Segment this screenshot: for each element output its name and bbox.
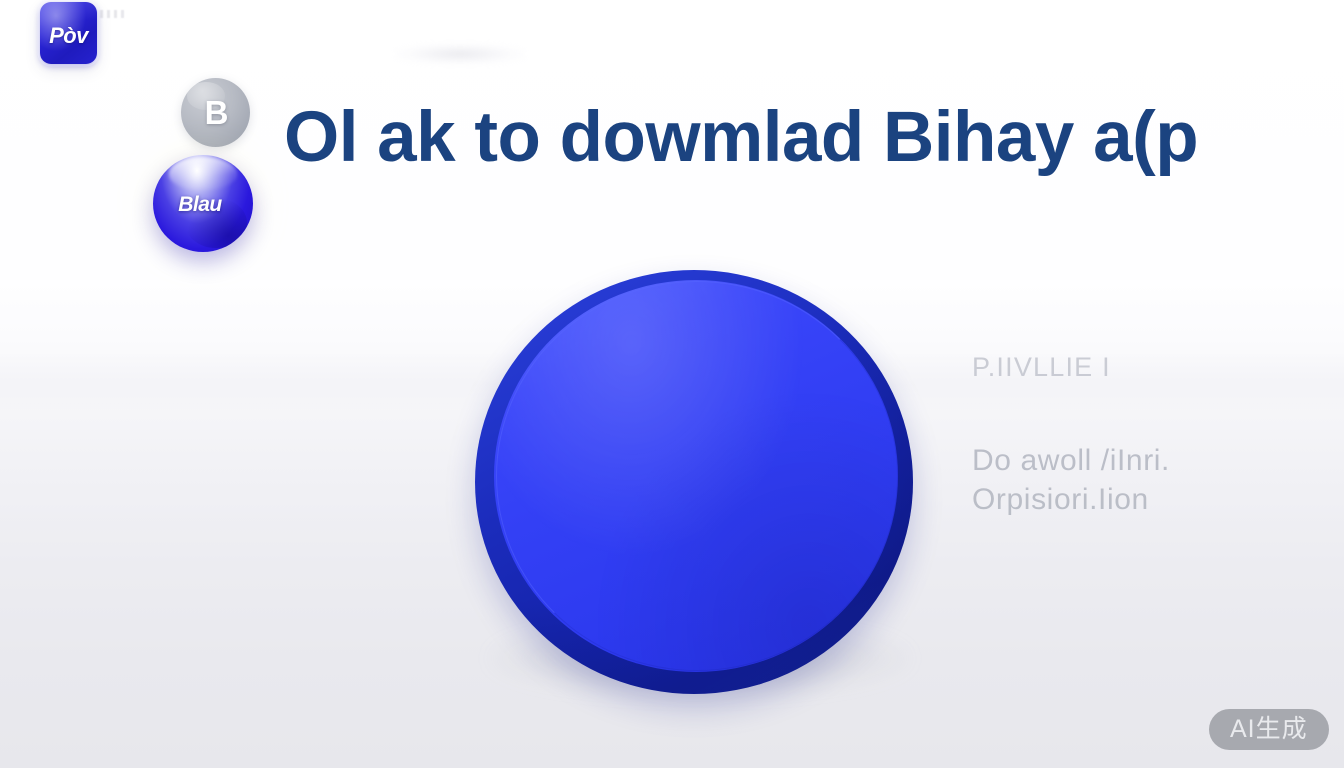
ghost-smudge-artifact — [395, 43, 525, 65]
faint-text-line-1: Do awoll /iInri. — [972, 441, 1272, 480]
faint-text-block: P.IIVLLIE I Do awoll /iInri. Orpisiori.I… — [972, 352, 1272, 519]
avatar-chip-label: B — [205, 94, 229, 132]
avatar-chip-b[interactable]: B — [181, 78, 250, 147]
hero-disc-face — [494, 280, 898, 672]
brand-sphere-label: Blau — [178, 193, 222, 217]
faint-text-label: P.IIVLLIE I — [972, 352, 1272, 383]
page-headline: Ol ak to dowmlad Bihay a(p — [284, 102, 1294, 173]
app-logo-label: Pòv — [49, 23, 88, 49]
brand-sphere-blau[interactable]: Blau — [153, 155, 253, 252]
app-logo-badge[interactable]: Pòv — [40, 2, 97, 64]
hero-disc — [470, 268, 920, 698]
ai-generated-watermark: AI生成 — [1209, 709, 1329, 750]
badge-speck-artifacts — [100, 10, 126, 18]
image-canvas: Pòv B Blau Ol ak to dowmlad Bihay a(p P.… — [0, 0, 1344, 768]
faint-text-line-2: Orpisiori.Iion — [972, 480, 1272, 519]
faint-text-paragraph: Do awoll /iInri. Orpisiori.Iion — [972, 441, 1272, 519]
